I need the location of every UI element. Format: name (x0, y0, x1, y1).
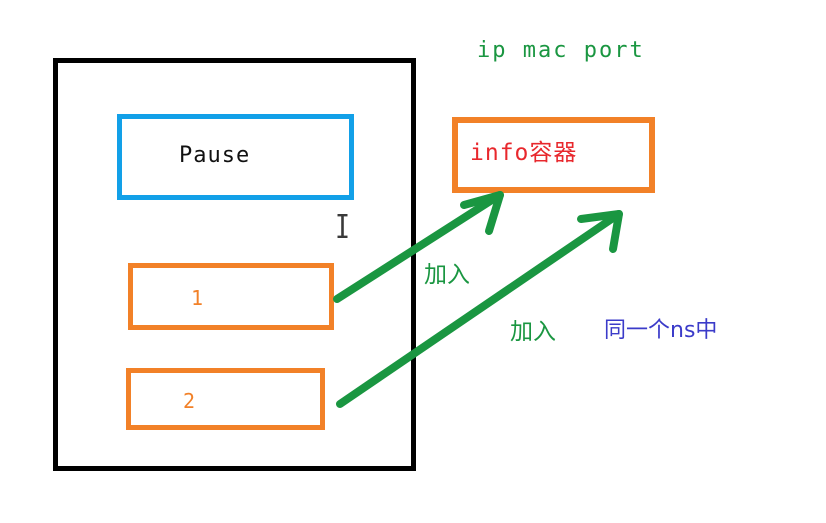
join-label-arrow-2: 加入 (510, 312, 556, 346)
container-1-label: 1 (191, 286, 203, 310)
diagram-canvas: Pause 1 2 info容器 ip mac port 加入 加入 同一个ns… (0, 0, 826, 523)
container-2-label: 2 (183, 389, 195, 413)
container-1-box: 1 (128, 263, 334, 330)
container-2-box: 2 (126, 368, 325, 430)
ip-mac-port-annotation: ip mac port (477, 38, 645, 63)
join-label-arrow-1: 加入 (424, 255, 470, 289)
pause-container-label: Pause (179, 143, 250, 168)
info-container-box: info容器 (452, 117, 655, 193)
i-beam-text-cursor-icon (337, 214, 348, 238)
pause-container-box: Pause (117, 114, 354, 200)
info-container-label: info容器 (470, 133, 577, 167)
same-namespace-annotation: 同一个ns中 (604, 312, 717, 344)
